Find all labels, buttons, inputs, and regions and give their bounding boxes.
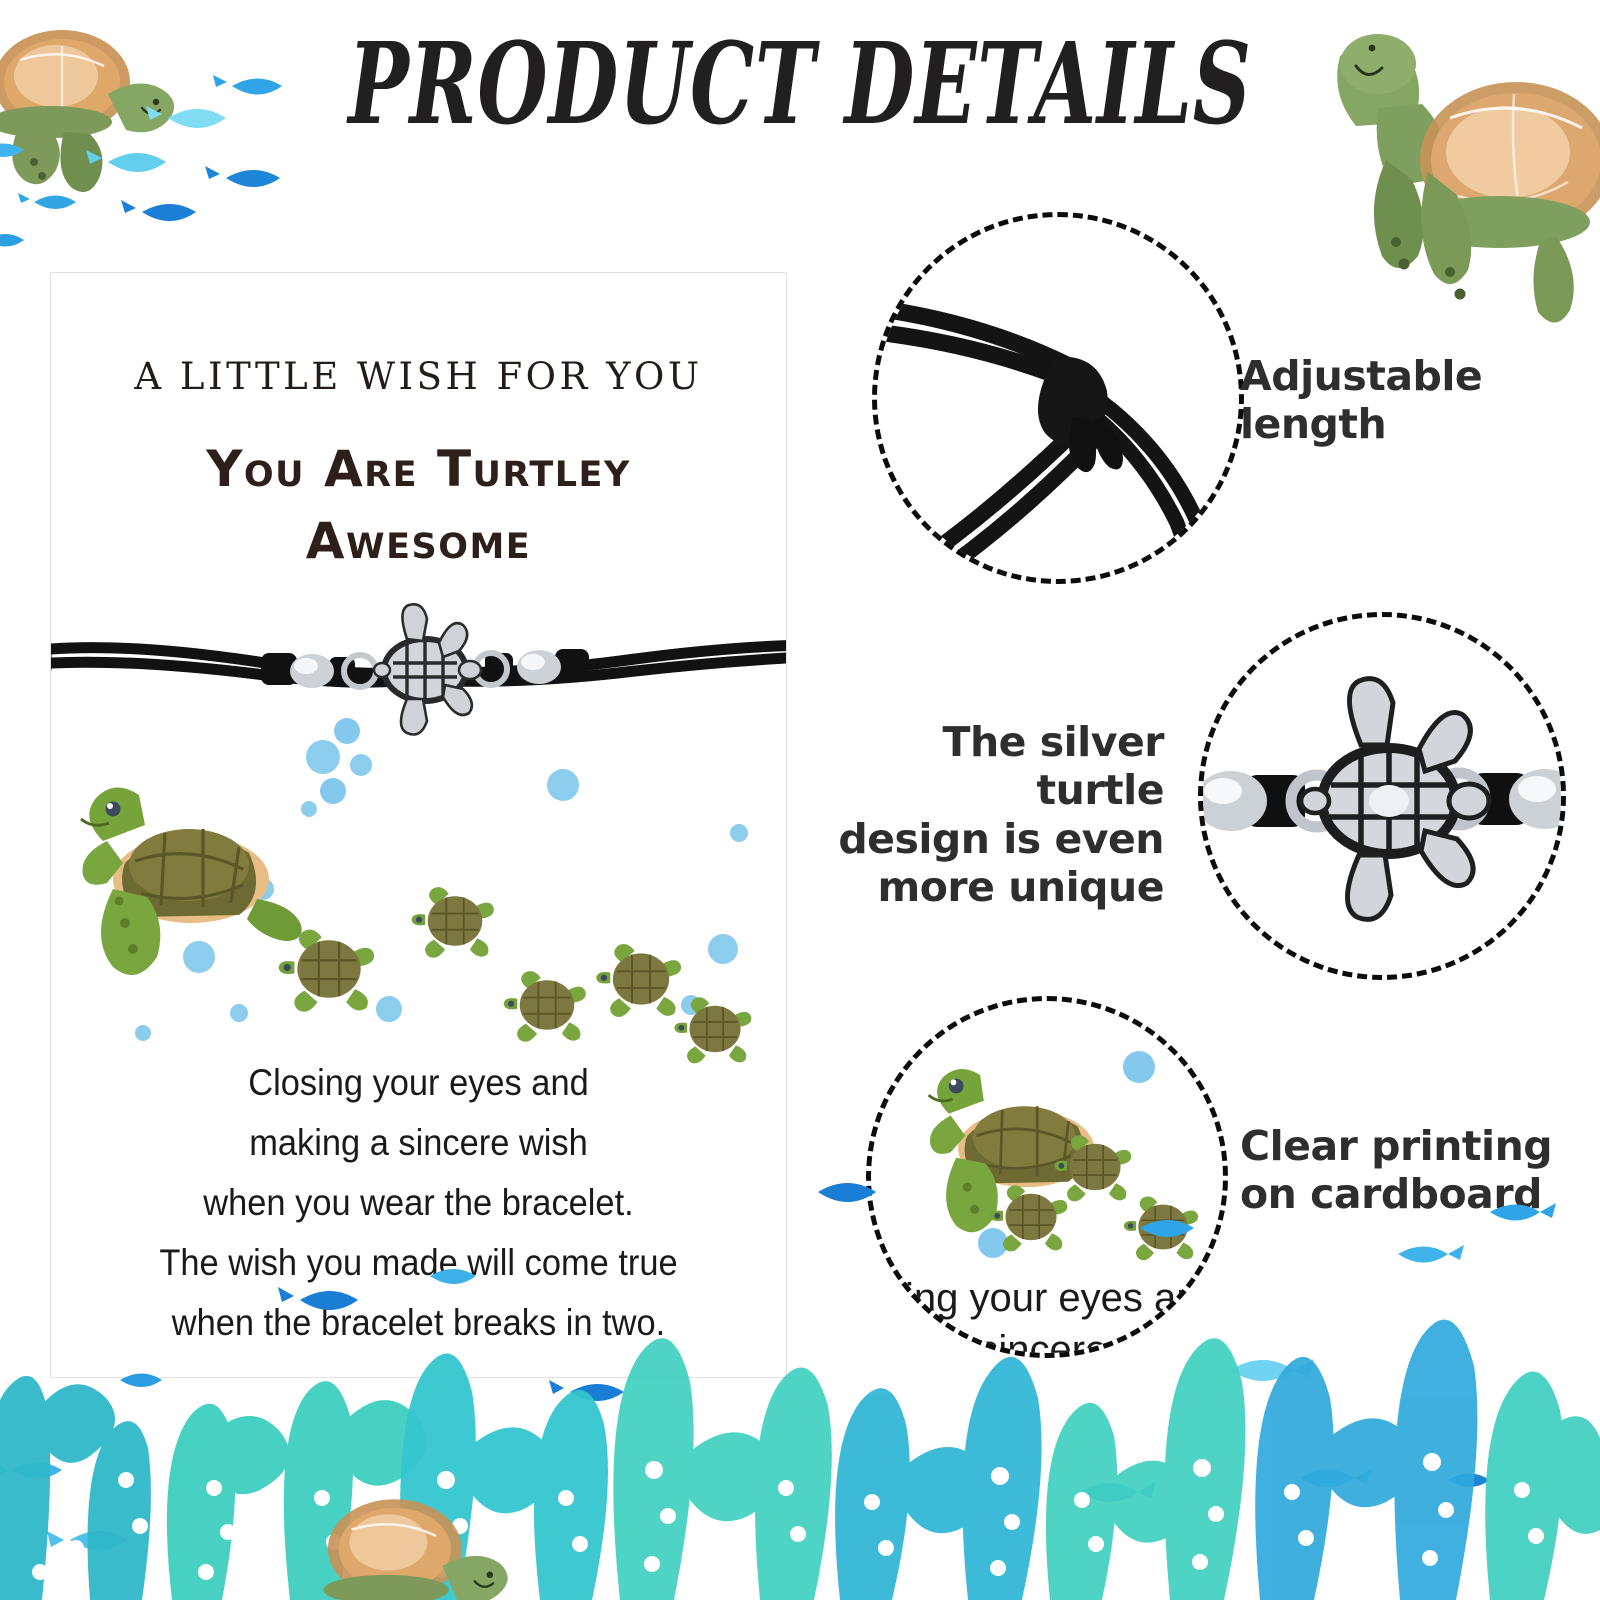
bottom-reef-decor [0, 1180, 1600, 1600]
watercolor-turtle-icon [1337, 34, 1600, 323]
feature-label-silver-turtle: The silver turtle design is even more un… [812, 718, 1164, 912]
black-cord-knot-photo [877, 217, 1244, 584]
infographic-canvas: PRODUCT DETAILS A LITTLE WISH FOR YOU Yo… [0, 0, 1600, 1600]
card-tagline: A LITTLE WISH FOR YOU [51, 355, 786, 398]
card-illustration [51, 713, 787, 1043]
feature-label-line-2: design is even [812, 815, 1164, 863]
feature-label-adjustable-length: Adjustable length [1240, 352, 1560, 449]
feature-circle-silver-turtle [1198, 612, 1566, 980]
feature-label-line-1: Adjustable [1240, 352, 1560, 400]
feature-circle-adjustable-length [872, 212, 1244, 584]
card-headline-line-1: You Are Turtley [95, 433, 742, 505]
card-body-line-2: making a sincere wish [108, 1113, 728, 1173]
baby-turtles-icon [279, 887, 752, 1063]
card-headline: You Are Turtley Awesome [95, 433, 742, 577]
feature-label-line-1: Clear printing [1240, 1122, 1570, 1170]
coral-icon [0, 1320, 1600, 1600]
card-headline-line-2: Awesome [95, 505, 742, 577]
feature-label-line-3: more unique [812, 863, 1164, 911]
silver-turtle-charm-icon [1301, 679, 1489, 920]
feature-label-line-1: The silver turtle [812, 718, 1164, 815]
card-body-line-1: Closing your eyes and [108, 1053, 728, 1113]
feature-label-line-2: length [1240, 400, 1560, 448]
watercolor-turtle-icon [324, 1499, 508, 1600]
bracelet-photo [50, 603, 787, 723]
page-title: PRODUCT DETAILS [224, 26, 1376, 144]
silver-turtle-charm-photo [1203, 617, 1566, 980]
